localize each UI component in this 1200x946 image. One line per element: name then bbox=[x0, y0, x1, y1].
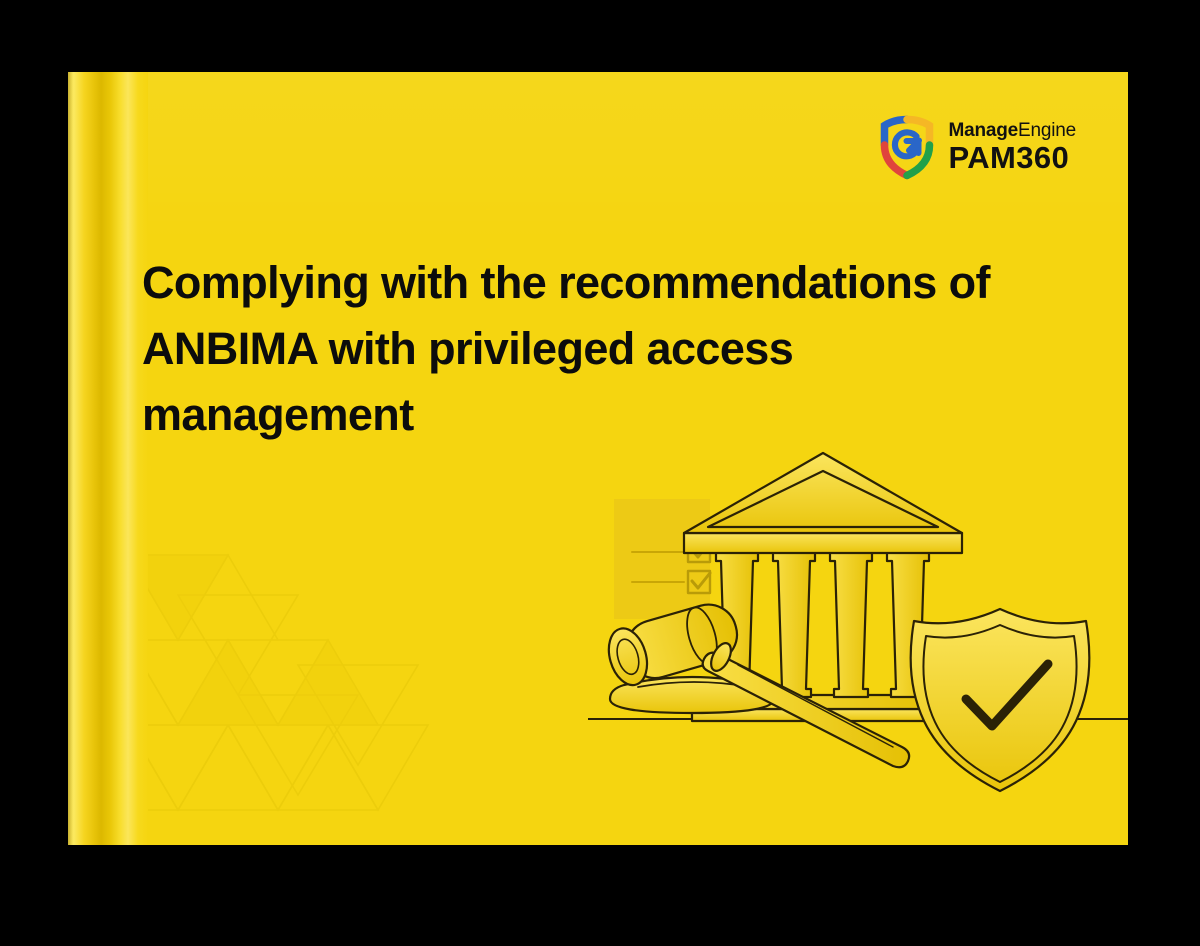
brand-name: ManageEngine bbox=[948, 121, 1076, 140]
cover-title: Complying with the recommendations of AN… bbox=[142, 250, 1032, 448]
illustration-svg bbox=[588, 447, 1128, 807]
book-spine-edge bbox=[68, 72, 73, 845]
ebook-cover: ManageEngine PAM360 Complying with the r… bbox=[68, 72, 1128, 845]
logo-wordmark: ManageEngine PAM360 bbox=[948, 121, 1076, 173]
page-canvas: ManageEngine PAM360 Complying with the r… bbox=[0, 0, 1200, 946]
brand-prefix: Manage bbox=[948, 120, 1018, 141]
compliance-bank-illustration bbox=[588, 447, 1128, 807]
checklist-document bbox=[614, 499, 710, 619]
product-name: PAM360 bbox=[948, 142, 1076, 173]
manageengine-shield-icon bbox=[878, 114, 936, 180]
manageengine-pam360-logo: ManageEngine PAM360 bbox=[878, 114, 1076, 180]
book-spine-fold bbox=[68, 72, 148, 845]
brand-suffix: Engine bbox=[1018, 120, 1076, 141]
shield-checkmark bbox=[911, 609, 1090, 791]
